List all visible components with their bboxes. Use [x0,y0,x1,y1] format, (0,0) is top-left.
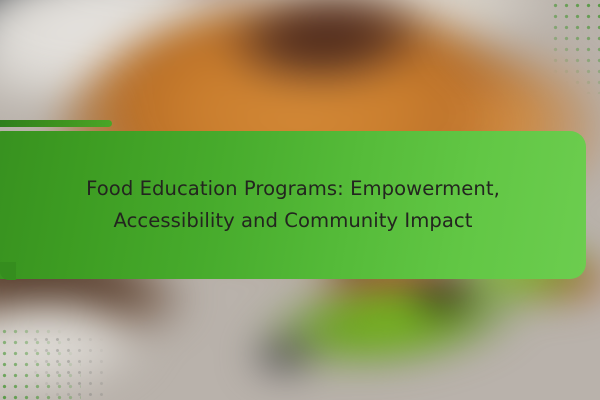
page-title: Food Education Programs: Empowerment, Ac… [47,173,539,237]
accent-bar [0,120,112,127]
banner-corner-notch [0,262,16,280]
page-title-line-1: Food Education Programs: Empowerment, [47,173,539,205]
page-title-line-2: Accessibility and Community Impact [47,205,539,237]
title-banner: Food Education Programs: Empowerment, Ac… [0,131,586,279]
photo-paper-lower [0,284,178,400]
header-card-stage: Food Education Programs: Empowerment, Ac… [0,0,600,400]
photo-dark-blob-2 [236,325,331,386]
